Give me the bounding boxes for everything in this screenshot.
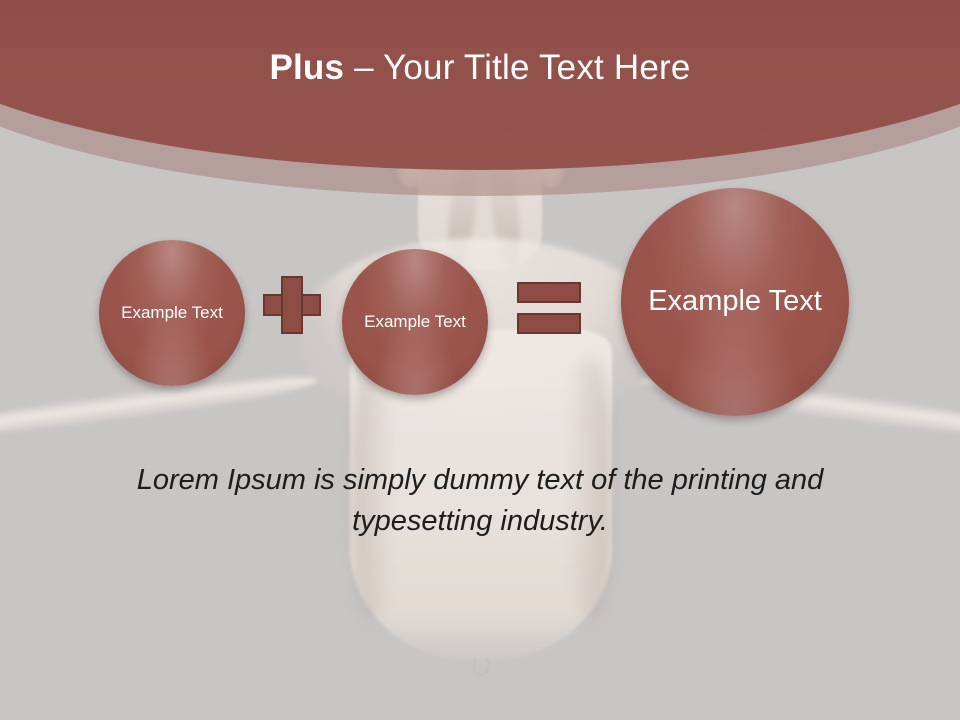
equals-icon-bar-top xyxy=(517,282,581,303)
diagram-node-operand-2-label: Example Text xyxy=(364,311,466,333)
slide-title-rest: – Your Title Text Here xyxy=(344,48,690,87)
diagram-node-operand-1[interactable]: Example Text xyxy=(99,240,245,386)
diagram-node-result[interactable]: Example Text xyxy=(621,188,849,416)
plus-icon-center xyxy=(283,296,301,314)
diagram-node-result-label: Example Text xyxy=(648,283,822,320)
diagram-node-operand-2[interactable]: Example Text xyxy=(342,249,488,395)
equals-icon xyxy=(517,282,581,334)
slide-canvas: Plus – Your Title Text Here Example Text… xyxy=(0,0,960,720)
plus-icon xyxy=(263,276,321,334)
slide-caption: Lorem Ipsum is simply dummy text of the … xyxy=(120,460,840,542)
diagram-node-operand-1-label: Example Text xyxy=(121,302,223,324)
equals-icon-bar-bottom xyxy=(517,313,581,334)
slide-title-strong: Plus xyxy=(269,48,344,87)
slide-title: Plus – Your Title Text Here xyxy=(0,46,960,90)
figure-navel xyxy=(473,655,489,675)
